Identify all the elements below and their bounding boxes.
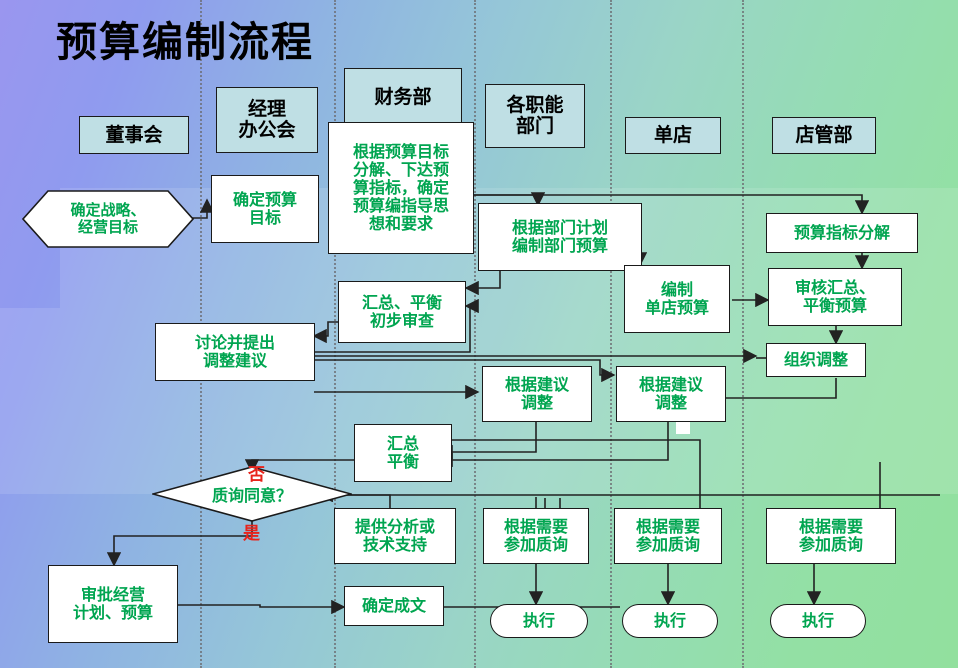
node-discuss-suggest[interactable]: 讨论并提出 调整建议 <box>155 323 315 381</box>
node-define-strategy[interactable]: 确定战略、 经营目标 <box>22 190 194 248</box>
node-define-budget-goal[interactable]: 确定预算 目标 <box>211 175 319 243</box>
lane-separator-4 <box>610 0 612 668</box>
lane-header-function-line2: 部门 <box>516 116 554 137</box>
lane-separator-5 <box>742 0 744 668</box>
node-adjust-by-advice-st[interactable]: 根据建议 调整 <box>616 366 726 422</box>
page-title: 预算编制流程 <box>56 8 314 68</box>
lane-header-manager: 经理 办公会 <box>216 87 318 153</box>
node-finance-decompose-line3: 算指标，确定 <box>353 179 449 197</box>
node-join-query-st-line2: 参加质询 <box>636 536 700 554</box>
node-finance-decompose-line4: 预算编指导思 <box>353 197 449 215</box>
node-summary-balance[interactable]: 汇总 平衡 <box>354 424 452 482</box>
node-execute-fn[interactable]: 执行 <box>490 604 588 638</box>
node-provide-support-line1: 提供分析或 <box>355 518 435 536</box>
lane-header-finance: 财务部 <box>344 68 462 126</box>
node-join-query-st-line1: 根据需要 <box>636 518 700 536</box>
lane-header-manager-line1: 经理 <box>248 99 286 120</box>
node-finalize-doc[interactable]: 确定成文 <box>344 586 444 626</box>
lane-separator-3 <box>474 0 476 668</box>
node-define-budget-goal-line2: 目标 <box>249 209 281 227</box>
node-dept-budget-line2: 编制部门预算 <box>512 237 608 255</box>
node-execute-st[interactable]: 执行 <box>622 604 718 638</box>
node-join-query-fn[interactable]: 根据需要 参加质询 <box>483 508 589 564</box>
node-adjust-by-advice-fn[interactable]: 根据建议 调整 <box>482 366 592 422</box>
node-finance-decompose-line2: 分解、下达预 <box>353 161 449 179</box>
node-query-agree-label: 质询同意？ <box>212 482 292 506</box>
node-index-breakdown[interactable]: 预算指标分解 <box>766 213 918 253</box>
node-store-budget-line2: 单店预算 <box>645 299 709 317</box>
lane-header-storemgr: 店管部 <box>772 117 876 154</box>
node-summary-review[interactable]: 汇总、平衡 初步审查 <box>338 281 466 343</box>
node-discuss-suggest-line2: 调整建议 <box>203 352 267 370</box>
lane-header-function-line1: 各职能 <box>506 95 563 116</box>
node-review-balance-line1: 审核汇总、 <box>795 279 875 297</box>
node-finalize-doc-label: 确定成文 <box>362 597 426 615</box>
node-index-breakdown-label: 预算指标分解 <box>794 224 890 242</box>
node-join-query-st[interactable]: 根据需要 参加质询 <box>614 508 722 564</box>
node-define-budget-goal-line1: 确定预算 <box>233 191 297 209</box>
node-finance-decompose-line5: 想和要求 <box>369 215 433 233</box>
node-store-budget[interactable]: 编制 单店预算 <box>624 265 730 333</box>
lane-header-storemgr-label: 店管部 <box>795 125 852 146</box>
node-approve-plan-line1: 审批经营 <box>81 586 145 604</box>
node-join-query-sm-line1: 根据需要 <box>799 518 863 536</box>
node-join-query-sm[interactable]: 根据需要 参加质询 <box>766 508 896 564</box>
node-approve-plan-line2: 计划、预算 <box>73 604 153 622</box>
node-join-query-sm-line2: 参加质询 <box>799 536 863 554</box>
node-review-balance-line2: 平衡预算 <box>803 297 867 315</box>
lane-header-board: 董事会 <box>79 116 189 154</box>
node-summary-balance-line1: 汇总 <box>387 435 419 453</box>
node-define-strategy-line2: 经营目标 <box>78 219 138 236</box>
node-join-query-fn-line1: 根据需要 <box>504 518 568 536</box>
node-store-budget-line1: 编制 <box>661 281 693 299</box>
node-execute-sm[interactable]: 执行 <box>770 604 866 638</box>
lane-separator-2 <box>334 0 336 668</box>
node-provide-support[interactable]: 提供分析或 技术支持 <box>334 508 456 564</box>
node-adjust-by-advice-st-line1: 根据建议 <box>639 376 703 394</box>
flowchart-canvas: 预算编制流程 董事会 经理 办公会 财务部 各职能 部门 单店 店管部 确定战略… <box>0 0 958 668</box>
node-summary-review-line2: 初步审查 <box>370 312 434 330</box>
flag-no: 否 <box>248 460 265 485</box>
node-execute-fn-label: 执行 <box>523 612 555 630</box>
node-adjust-by-advice-fn-line2: 调整 <box>521 394 553 412</box>
node-execute-st-label: 执行 <box>654 612 686 630</box>
node-approve-plan[interactable]: 审批经营 计划、预算 <box>48 565 178 643</box>
lane-header-manager-line2: 办公会 <box>238 120 295 141</box>
lane-header-function: 各职能 部门 <box>485 84 585 148</box>
lane-header-finance-label: 财务部 <box>374 87 431 108</box>
lane-header-store: 单店 <box>625 117 721 154</box>
decor-patch <box>676 422 690 434</box>
node-dept-budget-line1: 根据部门计划 <box>512 219 608 237</box>
band-mid <box>0 308 958 494</box>
node-join-query-fn-line2: 参加质询 <box>504 536 568 554</box>
node-execute-sm-label: 执行 <box>802 612 834 630</box>
node-define-strategy-line1: 确定战略、 <box>70 202 145 219</box>
node-organize-adjust-label: 组织调整 <box>784 351 848 369</box>
flag-yes: 是 <box>243 519 260 544</box>
node-finance-decompose-line1: 根据预算目标 <box>353 143 449 161</box>
node-summary-review-line1: 汇总、平衡 <box>362 294 442 312</box>
node-provide-support-line2: 技术支持 <box>363 536 427 554</box>
node-finance-decompose[interactable]: 根据预算目标 分解、下达预 算指标，确定 预算编指导思 想和要求 <box>328 122 474 254</box>
node-discuss-suggest-line1: 讨论并提出 <box>195 334 275 352</box>
node-adjust-by-advice-fn-line1: 根据建议 <box>505 376 569 394</box>
node-adjust-by-advice-st-line2: 调整 <box>655 394 687 412</box>
node-review-balance[interactable]: 审核汇总、 平衡预算 <box>768 268 902 326</box>
node-summary-balance-line2: 平衡 <box>387 453 419 471</box>
lane-header-board-label: 董事会 <box>105 125 162 146</box>
node-organize-adjust[interactable]: 组织调整 <box>766 343 866 377</box>
lane-header-store-label: 单店 <box>654 125 692 146</box>
node-dept-budget[interactable]: 根据部门计划 编制部门预算 <box>478 203 642 271</box>
